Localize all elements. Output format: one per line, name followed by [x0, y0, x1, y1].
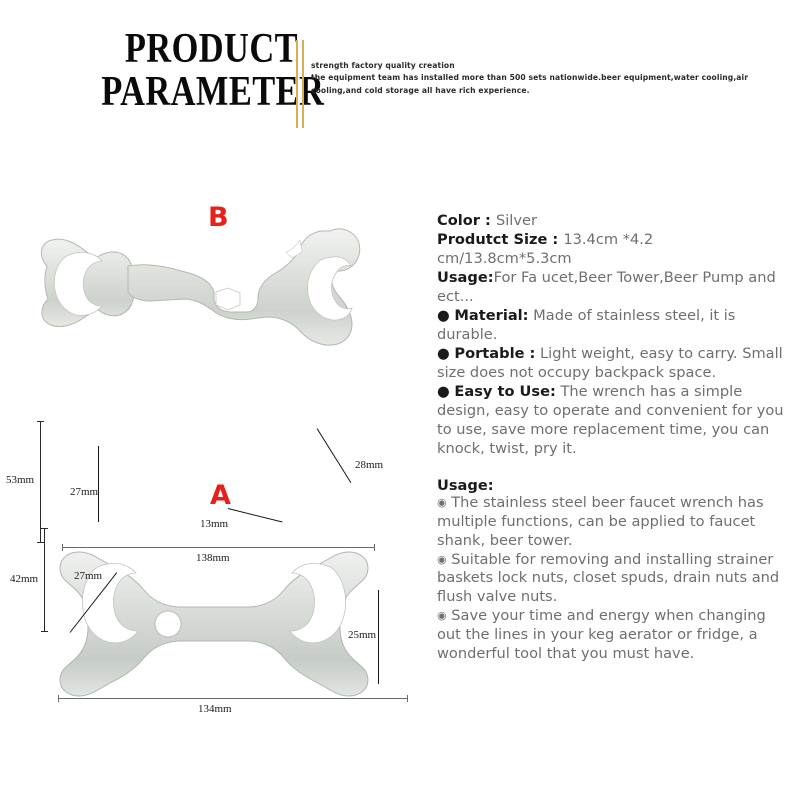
- usage-bullet-icon: ◉: [437, 496, 447, 509]
- bullet-icon: ●: [437, 307, 450, 324]
- product-diagrams: B 53mm 27mm 13mm 28mm 138mm A: [0, 160, 430, 750]
- wrench-b-right-opening-label: 28mm: [355, 459, 383, 471]
- usage-item-2-text: Suitable for removing and installing str…: [437, 551, 779, 606]
- wrench-a-length-label: 134mm: [198, 703, 232, 715]
- usage-heading: Usage:: [437, 459, 787, 494]
- wrench-b-illustration: [0, 188, 430, 448]
- page-header: PRODUCT PARAMETER strength factory quali…: [0, 0, 800, 160]
- spec-feature-easy-to-use: ● Easy to Use: The wrench has a simple d…: [437, 383, 787, 459]
- gold-divider: [296, 40, 306, 128]
- spec-feature-portable-label: Portable :: [454, 345, 535, 362]
- header-description-line-3: cooling,and cold storage all have rich e…: [311, 85, 711, 97]
- spec-usage-inline-label: Usage:: [437, 269, 494, 286]
- gold-divider-line-2: [302, 40, 304, 128]
- wrench-a-length-dimension-line: [58, 698, 408, 699]
- title-line-parameter: PARAMETER: [101, 73, 298, 112]
- usage-item-3: ◉ Save your time and energy when changin…: [437, 607, 787, 664]
- page-title: PRODUCT PARAMETER: [58, 30, 298, 111]
- bullet-icon: ●: [437, 345, 450, 362]
- header-description-line-2: the equipment team has installed more th…: [311, 72, 711, 84]
- usage-item-1: ◉ The stainless steel beer faucet wrench…: [437, 494, 787, 551]
- spec-feature-easy-to-use-label: Easy to Use:: [454, 383, 555, 400]
- spec-feature-portable: ● Portable : Light weight, easy to carry…: [437, 345, 787, 383]
- bullet-icon: ●: [437, 383, 450, 400]
- spec-usage-inline: Usage:For Fa ucet,Beer Tower,Beer Pump a…: [437, 269, 787, 307]
- wrench-a-right-opening-label: 25mm: [348, 629, 376, 641]
- usage-item-3-text: Save your time and energy when changing …: [437, 607, 766, 662]
- spec-feature-material-label: Material:: [454, 307, 528, 324]
- usage-bullet-icon: ◉: [437, 553, 447, 566]
- spec-size: Produtct Size : 13.4cm *4.2 cm/13.8cm*5.…: [437, 231, 787, 269]
- spec-color-value: Silver: [496, 212, 537, 229]
- spec-size-label: Produtct Size :: [437, 231, 563, 248]
- wrench-b-height-label: 53mm: [6, 474, 34, 486]
- wrench-a-label: A: [210, 482, 231, 509]
- header-description: strength factory quality creation the eq…: [311, 60, 711, 97]
- wrench-a-right-opening-line: [378, 590, 379, 684]
- spec-feature-material: ● Material: Made of stainless steel, it …: [437, 307, 787, 345]
- header-description-line-1: strength factory quality creation: [311, 60, 711, 72]
- usage-bullet-icon: ◉: [437, 609, 447, 622]
- title-line-product: PRODUCT: [101, 30, 298, 69]
- usage-item-2: ◉ Suitable for removing and installing s…: [437, 551, 787, 608]
- spec-color: Color : Silver: [437, 212, 787, 231]
- wrench-a-height-dimension-line: [44, 528, 45, 632]
- spec-color-label: Color :: [437, 212, 496, 229]
- wrench-a-left-opening-label: 27mm: [74, 570, 102, 582]
- wrench-a-height-label: 42mm: [10, 573, 38, 585]
- wrench-b-left-opening-label: 27mm: [70, 486, 98, 498]
- gold-divider-line-1: [296, 40, 298, 128]
- usage-item-1-text: The stainless steel beer faucet wrench h…: [437, 494, 764, 549]
- product-specifications: Color : Silver Produtct Size : 13.4cm *4…: [437, 212, 787, 664]
